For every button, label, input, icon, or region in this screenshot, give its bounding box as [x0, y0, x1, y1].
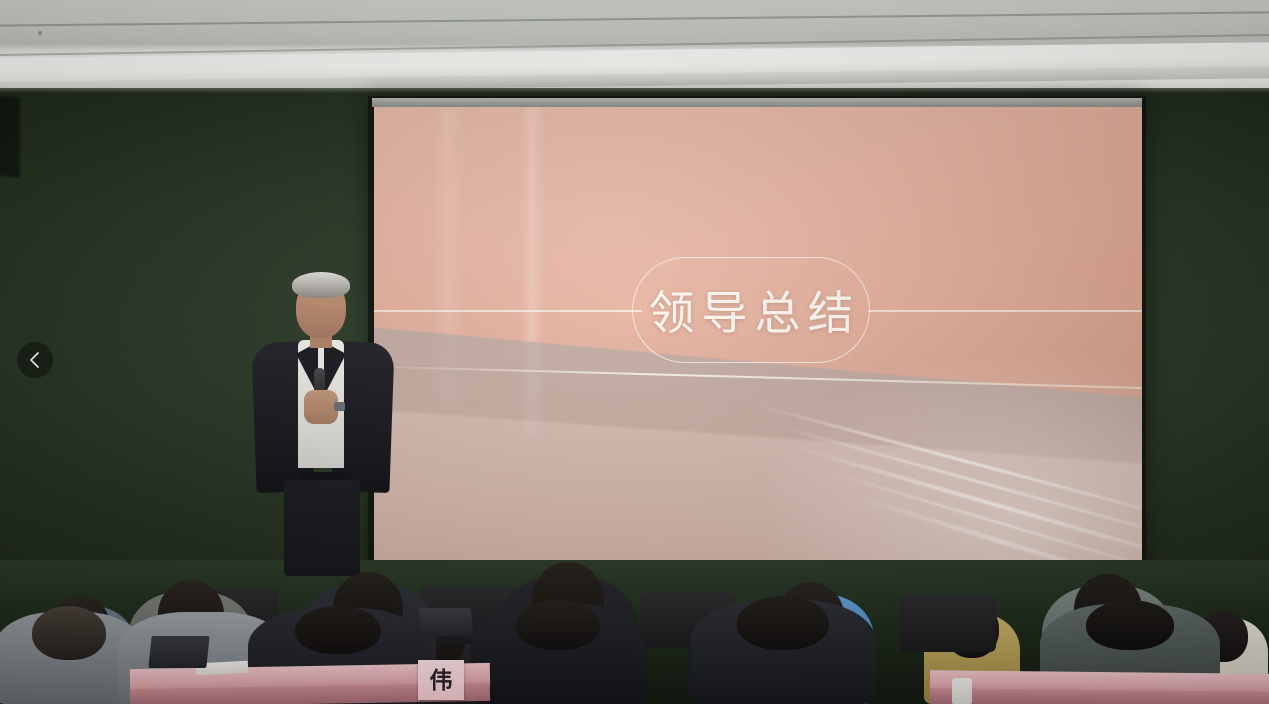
person-head [516, 600, 600, 650]
chevron-left-icon [28, 351, 42, 369]
audience-member [690, 574, 876, 704]
slide-rule-right [868, 310, 1142, 312]
name-card-text: 伟 [430, 669, 453, 692]
slide-rule-left [374, 310, 642, 312]
ceiling-fixture-dot [38, 31, 42, 35]
projection-screen-roller [372, 98, 1142, 107]
chair [900, 594, 996, 652]
laptop [148, 636, 209, 668]
person-head [32, 606, 106, 660]
audience [0, 440, 1269, 704]
slide-title-pill: 领导总结 [632, 257, 870, 363]
name-card: 伟 [418, 660, 464, 700]
slide-title: 领导总结 [642, 277, 861, 343]
presenter-watch [334, 402, 345, 411]
person-head [737, 596, 829, 650]
presenter-hair [292, 272, 350, 298]
person-head [295, 606, 381, 654]
conference-table-edge [930, 688, 1269, 704]
water-bottle [952, 678, 972, 704]
audience-member [470, 578, 646, 704]
presenter-hands [304, 390, 338, 424]
presentation-photo-viewer: 领导总结 [0, 0, 1269, 704]
ceiling-seam [0, 11, 1269, 26]
laptop [419, 608, 473, 636]
prev-image-button[interactable] [17, 342, 53, 378]
person-head [1086, 600, 1174, 650]
